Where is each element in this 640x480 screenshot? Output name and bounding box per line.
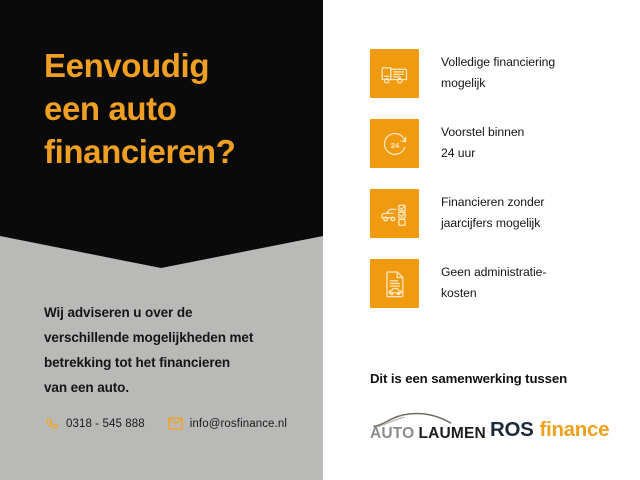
laumen-name-text: LAUMEN (418, 426, 486, 442)
contact-phone[interactable]: 0318 - 545 888 (44, 416, 145, 431)
feature-line-2: jaarcijfers mogelijk (441, 213, 544, 234)
envelope-icon (168, 416, 183, 431)
clock-badge-24: 24 (390, 140, 399, 149)
feature-text: Volledige financiering mogelijk (441, 49, 555, 94)
feature-line-2: 24 uur (441, 143, 524, 164)
feature-line-1: Voorstel binnen (441, 122, 524, 143)
phone-icon (44, 416, 59, 431)
feature-line-1: Geen administratie- (441, 262, 546, 283)
car-document-icon (370, 259, 419, 308)
finance-text: finance (540, 419, 610, 441)
ros-text: ROS (490, 419, 534, 441)
feature-line-2: mogelijk (441, 73, 555, 94)
delivery-van-icon (370, 49, 419, 98)
logo-row: AUTO LAUMEN ROS finance (370, 412, 630, 442)
clock-24-icon: 24 (370, 119, 419, 168)
headline-line-3: financieren? (44, 130, 312, 173)
headline-line-2: een auto (44, 87, 312, 130)
advertisement-banner: Eenvoudig een auto financieren? Wij advi… (0, 0, 640, 480)
feature-line-1: Financieren zonder (441, 192, 544, 213)
headline-line-1: Eenvoudig (44, 44, 312, 87)
email-address: info@rosfinance.nl (190, 418, 287, 430)
feature-item-no-annual-figures: Financieren zonder jaarcijfers mogelijk (370, 189, 630, 238)
page-title: Eenvoudig een auto financieren? (44, 44, 312, 173)
laumen-auto-text: AUTO (370, 426, 414, 442)
auto-laumen-wordmark: AUTO LAUMEN (370, 426, 486, 442)
contact-row: 0318 - 545 888 info@rosfinance.nl (44, 416, 287, 431)
ros-finance-logo[interactable]: ROS finance (490, 419, 609, 442)
feature-line-1: Volledige financiering (441, 52, 555, 73)
phone-number: 0318 - 545 888 (66, 418, 145, 430)
feature-text: Geen administratie- kosten (441, 259, 546, 304)
right-panel: Volledige financiering mogelijk 24 Voors… (323, 0, 640, 480)
feature-list: Volledige financiering mogelijk 24 Voors… (370, 49, 630, 329)
feature-text: Financieren zonder jaarcijfers mogelijk (441, 189, 544, 234)
advice-line-1: Wij adviseren u over de (44, 300, 302, 325)
partner-block: Dit is een samenwerking tussen AUTO LAUM… (370, 371, 630, 442)
left-panel: Eenvoudig een auto financieren? Wij advi… (0, 0, 323, 480)
feature-text: Voorstel binnen 24 uur (441, 119, 524, 164)
feature-item-24h-proposal: 24 Voorstel binnen 24 uur (370, 119, 630, 168)
advice-line-4: van een auto. (44, 375, 302, 400)
feature-item-full-financing: Volledige financiering mogelijk (370, 49, 630, 98)
partner-title: Dit is een samenwerking tussen (370, 371, 630, 386)
advice-line-3: betrekking tot het financieren (44, 350, 302, 375)
contact-email[interactable]: info@rosfinance.nl (168, 416, 287, 431)
auto-laumen-logo[interactable]: AUTO LAUMEN (370, 412, 458, 442)
feature-item-no-admin-costs: Geen administratie- kosten (370, 259, 630, 308)
car-checklist-icon (370, 189, 419, 238)
advice-paragraph: Wij adviseren u over de verschillende mo… (44, 300, 302, 400)
advice-line-2: verschillende mogelijkheden met (44, 325, 302, 350)
feature-line-2: kosten (441, 283, 546, 304)
